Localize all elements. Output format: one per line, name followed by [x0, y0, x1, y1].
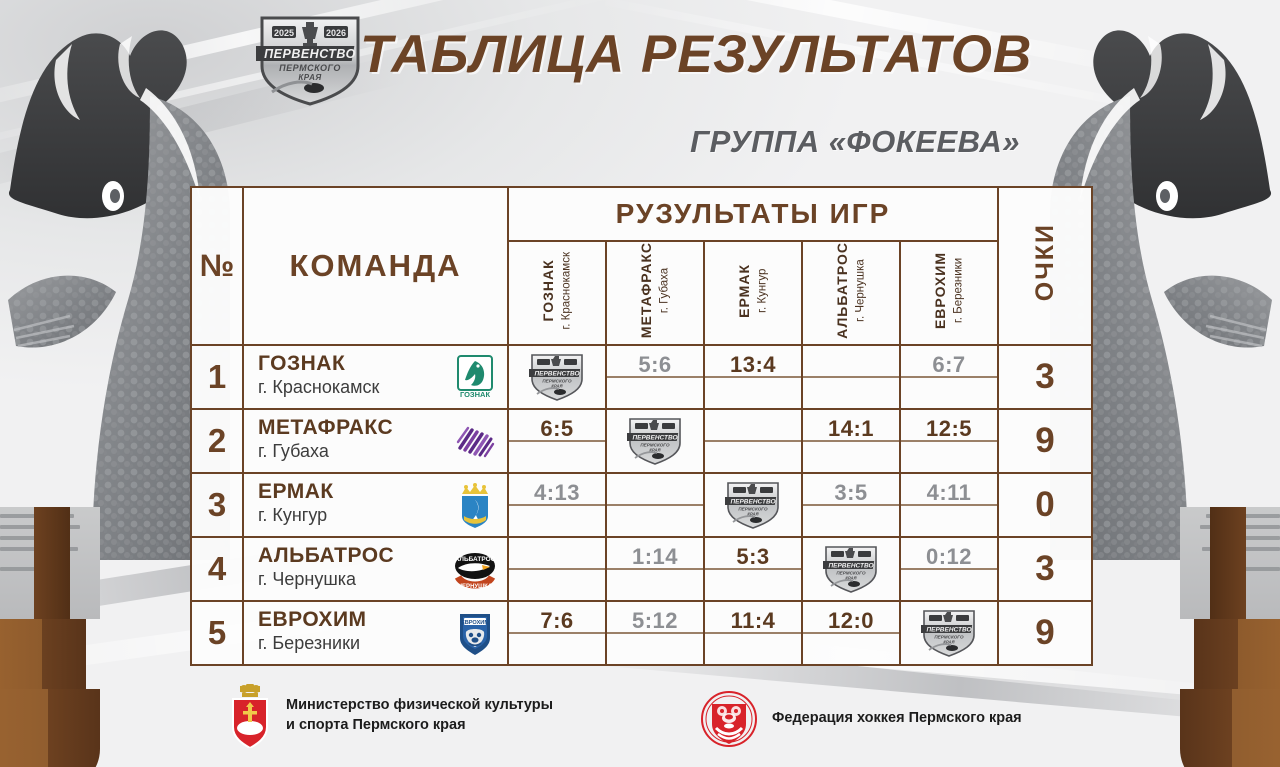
- cell-divider: [901, 440, 997, 442]
- score-cell-self: ПЕРВЕНСТВО ПЕРМСКОГО КРАЯ: [704, 473, 802, 537]
- svg-text:ПЕРВЕНСТВО: ПЕРВЕНСТВО: [926, 626, 971, 633]
- table-row: 4АЛЬБАТРОСг. ЧернушкаАЛЬБАТРОСЧЕРНУШКА1:…: [191, 537, 1092, 601]
- score-cell[interactable]: [606, 473, 704, 537]
- score-value: 5:3: [705, 544, 801, 570]
- table-row: 3ЕРМАКг. Кунгур4:13 ПЕРВЕНСТВО ПЕРМСКОГО…: [191, 473, 1092, 537]
- score-cell[interactable]: 0:12: [900, 537, 998, 601]
- header-opponent-2: МЕТАФРАКС г. Губаха: [606, 241, 704, 345]
- ministry-line2: и спорта Пермского края: [286, 716, 553, 736]
- table-body: 1ГОЗНАКг. КраснокамскГОЗНАК ПЕРВЕНСТВО П…: [191, 345, 1092, 665]
- svg-text:ПЕРВЕНСТВО: ПЕРВЕНСТВО: [534, 370, 579, 377]
- cell-divider: [607, 376, 703, 378]
- cell-divider: [509, 504, 605, 506]
- team-cell[interactable]: ГОЗНАКг. КраснокамскГОЗНАК: [243, 345, 508, 409]
- opponent-city: г. Губаха: [658, 268, 670, 313]
- cell-divider: [509, 632, 605, 634]
- championship-shield-icon: ПЕРВЕНСТВО ПЕРМСКОГО КРАЯ: [627, 417, 683, 465]
- page-header: 2025 2026 ПЕРВЕНСТВО ПЕРМСКОГО КРАЯ ТАБЛ…: [0, 0, 1280, 175]
- cell-divider: [705, 376, 801, 378]
- header-results-group: РУЗУЛЬТАТЫ ИГР: [508, 187, 998, 241]
- goznak-logo: ГОЗНАК: [452, 354, 498, 400]
- team-name: МЕТАФРАКС: [258, 417, 393, 439]
- opponent-name: ЕВРОХИМ: [932, 252, 948, 329]
- header-opponent-5: ЕВРОХИМ г. Березники: [900, 241, 998, 345]
- row-number: 2: [191, 409, 243, 473]
- svg-text:АЛЬБАТРОС: АЛЬБАТРОС: [455, 556, 496, 563]
- championship-shield-icon: ПЕРВЕНСТВО ПЕРМСКОГО КРАЯ: [823, 545, 879, 593]
- score-cell-self: ПЕРВЕНСТВО ПЕРМСКОГО КРАЯ: [508, 345, 606, 409]
- header-points-label: ОЧКИ: [1031, 223, 1060, 301]
- opponent-city: г. Чернушка: [854, 259, 866, 322]
- table-header-group-row: № КОМАНДА РУЗУЛЬТАТЫ ИГР ОЧКИ: [191, 187, 1092, 241]
- score-cell-self: ПЕРВЕНСТВО ПЕРМСКОГО КРАЯ: [900, 601, 998, 665]
- page-subtitle: ГРУППА «ФОКЕЕВА»: [360, 124, 1028, 160]
- opponent-name: АЛЬБАТРОС: [834, 242, 850, 339]
- cell-divider: [509, 568, 605, 570]
- cell-divider: [607, 504, 703, 506]
- score-value: 12:5: [901, 416, 997, 442]
- championship-shield-icon: ПЕРВЕНСТВО ПЕРМСКОГО КРАЯ: [725, 481, 781, 529]
- svg-text:ПЕРВЕНСТВО: ПЕРВЕНСТВО: [730, 498, 775, 505]
- page-title: ТАБЛИЦА РЕЗУЛЬТАТОВ: [360, 24, 1020, 85]
- row-number: 4: [191, 537, 243, 601]
- score-cell[interactable]: 6:5: [508, 409, 606, 473]
- score-value: 6:5: [509, 416, 605, 442]
- header-number: №: [191, 187, 243, 345]
- team-city: г. Губаха: [258, 441, 393, 462]
- ministry-line1: Министерство физической культуры: [286, 696, 553, 716]
- team-name: АЛЬБАТРОС: [258, 545, 394, 567]
- team-city: г. Березники: [258, 633, 367, 654]
- ministry-label: Министерство физической культуры и спорт…: [286, 696, 553, 735]
- cell-divider: [803, 504, 899, 506]
- results-table-container: № КОМАНДА РУЗУЛЬТАТЫ ИГР ОЧКИ ГОЗНАК г. …: [190, 186, 1090, 642]
- opponent-city: г. Кунгур: [756, 268, 768, 312]
- score-value: 4:11: [901, 480, 997, 506]
- score-cell[interactable]: 5:12: [606, 601, 704, 665]
- cell-divider: [901, 568, 997, 570]
- results-table: № КОМАНДА РУЗУЛЬТАТЫ ИГР ОЧКИ ГОЗНАК г. …: [190, 186, 1093, 666]
- team-cell[interactable]: АЛЬБАТРОСг. ЧернушкаАЛЬБАТРОСЧЕРНУШКА: [243, 537, 508, 601]
- logo-line1: ПЕРВЕНСТВО: [264, 47, 356, 61]
- header-opponent-3: ЕРМАК г. Кунгур: [704, 241, 802, 345]
- score-cell[interactable]: 12:5: [900, 409, 998, 473]
- header-team: КОМАНДА: [243, 187, 508, 345]
- opponent-city: г. Краснокамск: [560, 252, 572, 330]
- championship-shield-icon: ПЕРВЕНСТВО ПЕРМСКОГО КРАЯ: [921, 609, 977, 657]
- score-cell[interactable]: 12:0: [802, 601, 900, 665]
- team-name: ГОЗНАК: [258, 353, 379, 375]
- cell-divider: [803, 440, 899, 442]
- cell-divider: [901, 504, 997, 506]
- logo-line2: ПЕРМСКОГО: [279, 63, 341, 73]
- score-cell[interactable]: [704, 409, 802, 473]
- federation-label: Федерация хоккея Пермского края: [772, 709, 1022, 729]
- score-cell[interactable]: 5:6: [606, 345, 704, 409]
- score-cell[interactable]: 13:4: [704, 345, 802, 409]
- score-cell[interactable]: 4:13: [508, 473, 606, 537]
- score-value: 3:5: [803, 480, 899, 506]
- score-cell[interactable]: 1:14: [606, 537, 704, 601]
- score-cell-self: ПЕРВЕНСТВО ПЕРМСКОГО КРАЯ: [802, 537, 900, 601]
- score-cell[interactable]: 11:4: [704, 601, 802, 665]
- score-value: 4:13: [509, 480, 605, 506]
- score-cell[interactable]: 5:3: [704, 537, 802, 601]
- score-value: 6:7: [901, 352, 997, 378]
- team-cell[interactable]: ЕРМАКг. Кунгур: [243, 473, 508, 537]
- score-cell[interactable]: 14:1: [802, 409, 900, 473]
- svg-text:ПЕРВЕНСТВО: ПЕРВЕНСТВО: [828, 562, 873, 569]
- points-value: 9: [998, 409, 1092, 473]
- points-value: 3: [998, 345, 1092, 409]
- opponent-name: ЕРМАК: [736, 264, 752, 318]
- ermak-logo: [452, 482, 498, 528]
- opponent-city: г. Березники: [952, 258, 964, 323]
- page-footer: Министерство физической культуры и спорт…: [0, 676, 1280, 767]
- team-city: г. Чернушка: [258, 569, 394, 590]
- albatros-logo: АЛЬБАТРОСЧЕРНУШКА: [452, 546, 498, 592]
- row-number: 5: [191, 601, 243, 665]
- score-value: 5:6: [607, 352, 703, 378]
- metafrax-logo: [452, 418, 498, 464]
- cell-divider: [901, 376, 997, 378]
- logo-year-right: 2026: [326, 28, 346, 38]
- score-value: 1:14: [607, 544, 703, 570]
- cell-divider: [803, 632, 899, 634]
- score-cell[interactable]: 7:6: [508, 601, 606, 665]
- score-cell[interactable]: [508, 537, 606, 601]
- score-cell[interactable]: [802, 345, 900, 409]
- score-value: 5:12: [607, 608, 703, 634]
- logo-year-left: 2025: [274, 28, 294, 38]
- svg-text:ЕВРОХИМ: ЕВРОХИМ: [461, 620, 489, 626]
- header-points: ОЧКИ: [998, 187, 1092, 345]
- team-city: г. Краснокамск: [258, 377, 379, 398]
- cell-divider: [803, 376, 899, 378]
- svg-text:ЧЕРНУШКА: ЧЕРНУШКА: [458, 584, 493, 590]
- header-opponent-4: АЛЬБАТРОС г. Чернушка: [802, 241, 900, 345]
- cell-divider: [705, 632, 801, 634]
- federation-block: Федерация хоккея Пермского края: [700, 690, 1022, 748]
- score-value: 12:0: [803, 608, 899, 634]
- ministry-block: Министерство физической культуры и спорт…: [228, 684, 553, 748]
- cell-divider: [509, 440, 605, 442]
- points-value: 3: [998, 537, 1092, 601]
- score-value: 14:1: [803, 416, 899, 442]
- svg-text:ПЕРВЕНСТВО: ПЕРВЕНСТВО: [632, 434, 677, 441]
- score-value: 7:6: [509, 608, 605, 634]
- row-number: 1: [191, 345, 243, 409]
- cell-divider: [705, 568, 801, 570]
- team-city: г. Кунгур: [258, 505, 334, 526]
- team-name: ЕВРОХИМ: [258, 609, 367, 631]
- perm-krai-coat-of-arms: [228, 684, 272, 748]
- team-cell[interactable]: ЕВРОХИМг. БерезникиЕВРОХИМ: [243, 601, 508, 665]
- perm-hockey-federation-logo: [700, 690, 758, 748]
- hockey-puck-icon: [304, 83, 324, 93]
- cell-divider: [607, 568, 703, 570]
- cell-divider: [607, 632, 703, 634]
- points-value: 9: [998, 601, 1092, 665]
- eurochem-logo: ЕВРОХИМ: [452, 610, 498, 656]
- score-cell-self: ПЕРВЕНСТВО ПЕРМСКОГО КРАЯ: [606, 409, 704, 473]
- team-name: ЕРМАК: [258, 481, 334, 503]
- table-row: 5ЕВРОХИМг. БерезникиЕВРОХИМ7:65:1211:412…: [191, 601, 1092, 665]
- svg-text:ГОЗНАК: ГОЗНАК: [460, 390, 491, 399]
- table-row: 2МЕТАФРАКСг. Губаха6:5 ПЕРВЕНСТВО ПЕРМСК…: [191, 409, 1092, 473]
- score-cell[interactable]: 6:7: [900, 345, 998, 409]
- championship-logo: 2025 2026 ПЕРВЕНСТВО ПЕРМСКОГО КРАЯ: [256, 14, 364, 106]
- championship-shield-icon: ПЕРВЕНСТВО ПЕРМСКОГО КРАЯ: [529, 353, 585, 401]
- score-cell[interactable]: 3:5: [802, 473, 900, 537]
- score-cell[interactable]: 4:11: [900, 473, 998, 537]
- header-opponent-1: ГОЗНАК г. Краснокамск: [508, 241, 606, 345]
- cell-divider: [705, 440, 801, 442]
- row-number: 3: [191, 473, 243, 537]
- score-value: 11:4: [705, 608, 801, 634]
- score-value: 13:4: [705, 352, 801, 378]
- score-value: 0:12: [901, 544, 997, 570]
- opponent-name: ГОЗНАК: [540, 259, 556, 321]
- table-row: 1ГОЗНАКг. КраснокамскГОЗНАК ПЕРВЕНСТВО П…: [191, 345, 1092, 409]
- team-cell[interactable]: МЕТАФРАКСг. Губаха: [243, 409, 508, 473]
- points-value: 0: [998, 473, 1092, 537]
- opponent-name: МЕТАФРАКС: [638, 242, 654, 338]
